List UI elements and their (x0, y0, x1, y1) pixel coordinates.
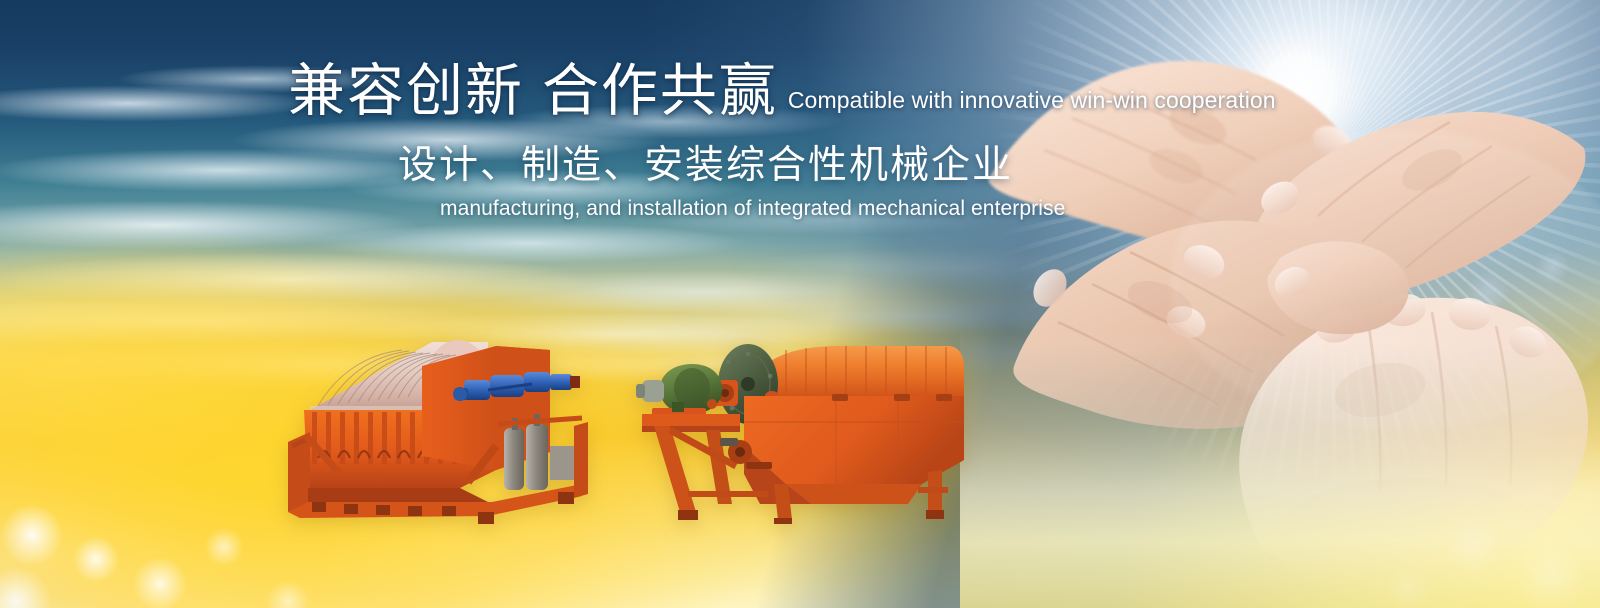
banner-copy: 兼容创新 合作共赢 Compatible with innovative win… (288, 62, 1268, 221)
headline-english: Compatible with innovative win-win coope… (788, 87, 1276, 114)
drum-magnetic-separator-image (636, 334, 972, 524)
ceramic-vacuum-disc-filter-image (282, 306, 622, 542)
headline-row: 兼容创新 合作共赢 Compatible with innovative win… (288, 62, 1268, 122)
hero-banner: 兼容创新 合作共赢 Compatible with innovative win… (0, 0, 1600, 608)
subheadline-chinese: 设计、制造、安装综合性机械企业 (398, 134, 1268, 190)
headline-chinese: 兼容创新 合作共赢 (288, 62, 778, 122)
subheadline-english: manufacturing, and installation of integ… (440, 197, 1268, 221)
